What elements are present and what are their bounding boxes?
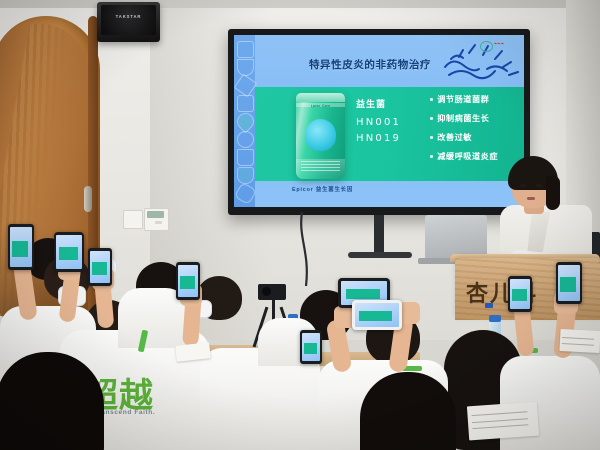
- attendee-head-foreground: [360, 372, 456, 450]
- mortar-pestle-icon: [237, 59, 252, 74]
- list-item: 减缓呼吸道炎症: [430, 150, 498, 162]
- stethoscope-icon: [237, 131, 252, 146]
- bullet-dot-icon: [430, 136, 433, 139]
- phone-screen[interactable]: [10, 227, 32, 267]
- bullet-dot-icon: [430, 117, 433, 120]
- speaker-brand-label: TAKSTAR: [97, 14, 160, 19]
- bottle-cap: [489, 315, 501, 322]
- phone-screen[interactable]: [302, 333, 320, 361]
- bullet-text: 改善过敏: [437, 132, 472, 142]
- bullet-dot-icon: [430, 155, 433, 158]
- phone-slide-preview: [512, 289, 527, 301]
- can-label-lines: [301, 161, 340, 173]
- phone-slide-preview: [359, 311, 392, 321]
- thermometer-icon: [237, 185, 252, 200]
- door-handle[interactable]: [84, 186, 92, 212]
- list-item: 调节肠道菌群: [430, 93, 498, 105]
- bullet-text: 减缓呼吸道炎症: [437, 151, 498, 161]
- slide-footer-text: Epicor 益生菌生长因: [292, 185, 353, 193]
- bullet-text: 调节肠道菌群: [437, 94, 489, 104]
- phone-slide-preview: [304, 343, 317, 354]
- phone-screen[interactable]: [178, 265, 198, 297]
- pill-bottle-icon: [237, 149, 252, 164]
- phone-screen[interactable]: [510, 279, 530, 309]
- product-code-2: HN019: [356, 133, 401, 144]
- slide-corner-logo: ⌁⌁⌁: [480, 40, 522, 51]
- display-stand: [374, 215, 384, 257]
- product-can-image: Lacto Care: [296, 93, 345, 179]
- can-graphic: [305, 119, 336, 151]
- can-lid: [296, 93, 345, 102]
- phone-screen[interactable]: [56, 235, 82, 269]
- can-label-text: Lacto Care: [296, 104, 345, 108]
- microscope-icon: [237, 41, 252, 56]
- phone-slide-preview: [180, 276, 195, 289]
- product-code-1: HN001: [356, 117, 401, 128]
- bullet-text: 抑制病菌生长: [437, 113, 489, 123]
- light-switch[interactable]: [123, 210, 143, 229]
- phone-screen[interactable]: [90, 251, 110, 283]
- list-item: 改善过敏: [430, 131, 498, 143]
- product-text-block: 益生菌 HN001 HN019: [356, 97, 401, 144]
- phone-slide-preview: [92, 262, 107, 275]
- phone-slide-preview: [560, 277, 576, 291]
- phone-slide-preview: [12, 241, 28, 257]
- presenter-eye-left: [520, 184, 526, 187]
- presenter-hair-side: [546, 176, 560, 210]
- ceiling-edge: [0, 0, 600, 8]
- phone-slide-preview: [59, 247, 78, 261]
- clipboard-icon: [237, 95, 252, 110]
- phone-slide-preview: [346, 289, 380, 299]
- heart-icon: [237, 113, 252, 128]
- slide-title: 特异性皮炎的非药物治疗: [280, 57, 460, 72]
- speaker-grille-icon: [101, 5, 156, 35]
- display-cable: [296, 212, 336, 292]
- display-screen: 特异性皮炎的非药物治疗 ⌁⌁⌁ Lacto Care: [234, 35, 524, 207]
- presentation-slide: 特异性皮炎的非药物治疗 ⌁⌁⌁ Lacto Care: [234, 35, 524, 207]
- syringe-icon: [237, 77, 252, 92]
- handout-paper[interactable]: [467, 402, 539, 441]
- logo-mark-icon: [480, 41, 493, 52]
- phone-screen[interactable]: [355, 303, 399, 327]
- phone-screen[interactable]: [558, 265, 580, 301]
- podium-badge: [485, 303, 493, 308]
- presenter-mouth: [527, 197, 535, 200]
- handout-paper[interactable]: [559, 329, 600, 353]
- thermostat-display: [147, 211, 164, 218]
- thermostat-button[interactable]: [155, 221, 162, 224]
- product-name: 益生菌: [356, 97, 401, 110]
- logo-wordmark: ⌁⌁⌁: [494, 41, 504, 47]
- bullet-dot-icon: [430, 98, 433, 101]
- display-base: [348, 252, 412, 258]
- wall-speaker: TAKSTAR: [97, 2, 160, 42]
- shield-icon: [237, 167, 252, 182]
- lecture-room-photo: TAKSTAR 特异性皮炎的非药物治疗: [0, 0, 600, 450]
- presenter-eye-right: [536, 184, 542, 187]
- camera-lens-icon: [262, 287, 271, 296]
- list-item: 抑制病菌生长: [430, 112, 498, 124]
- slide-bullet-list: 调节肠道菌群 抑制病菌生长 改善过敏 减缓呼吸道炎症: [430, 93, 498, 169]
